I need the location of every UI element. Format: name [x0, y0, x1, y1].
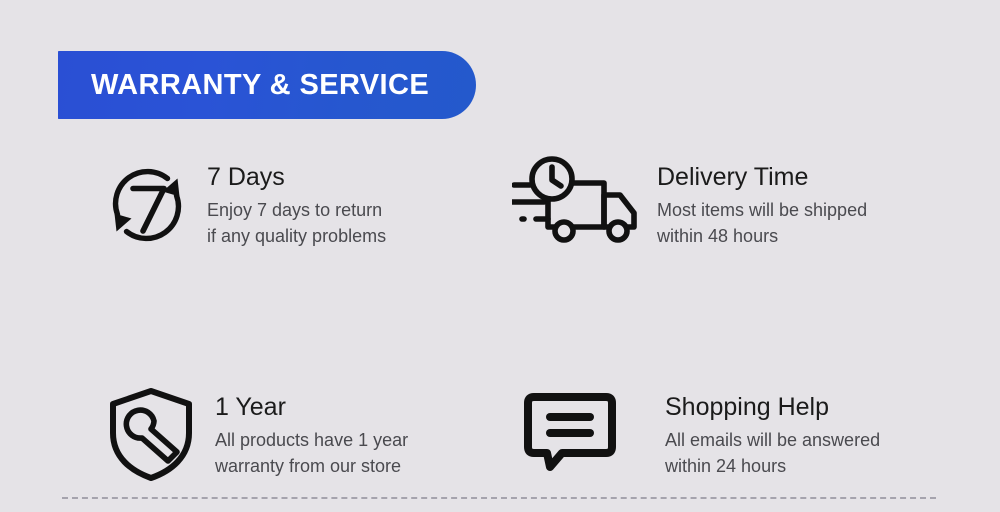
feature-description-line: if any quality problems: [207, 223, 450, 250]
feature-title: 7 Days: [207, 163, 450, 192]
feature-description-line: within 24 hours: [665, 453, 900, 480]
bottom-dashed-divider: [62, 497, 936, 499]
feature-description: All emails will be answered within 24 ho…: [665, 427, 900, 480]
feature-text: Delivery Time Most items will be shipped…: [657, 155, 900, 250]
feature-description-line: within 48 hours: [657, 223, 900, 250]
feature-description-line: warranty from our store: [215, 453, 450, 480]
feature-one-year-warranty: 1 Year All products have 1 year warranty…: [0, 385, 450, 483]
feature-row: 1 Year All products have 1 year warranty…: [0, 385, 1000, 483]
seven-days-return-icon: [97, 155, 207, 255]
feature-text: 7 Days Enjoy 7 days to return if any qua…: [207, 155, 450, 250]
feature-description: Enjoy 7 days to return if any quality pr…: [207, 197, 450, 250]
feature-row: 7 Days Enjoy 7 days to return if any qua…: [0, 155, 1000, 255]
feature-title: Shopping Help: [665, 393, 900, 422]
feature-description-line: Enjoy 7 days to return: [207, 197, 450, 224]
feature-text: 1 Year All products have 1 year warranty…: [215, 385, 450, 480]
feature-seven-days: 7 Days Enjoy 7 days to return if any qua…: [0, 155, 450, 255]
feature-title: 1 Year: [215, 393, 450, 422]
chat-bubble-icon: [512, 385, 665, 477]
feature-grid: 7 Days Enjoy 7 days to return if any qua…: [0, 155, 1000, 483]
warranty-banner: WARRANTY & SERVICE: [58, 51, 476, 119]
feature-description-line: Most items will be shipped: [657, 197, 900, 224]
banner-title: WARRANTY & SERVICE: [91, 71, 429, 100]
feature-shopping-help: Shopping Help All emails will be answere…: [450, 385, 900, 483]
feature-description-line: All emails will be answered: [665, 427, 900, 454]
warranty-service-panel: WARRANTY & SERVICE: [0, 0, 1000, 512]
row-spacer: [0, 255, 1000, 385]
feature-description: Most items will be shipped within 48 hou…: [657, 197, 900, 250]
feature-text: Shopping Help All emails will be answere…: [665, 385, 900, 480]
shield-wrench-icon: [97, 385, 215, 483]
feature-description: All products have 1 year warranty from o…: [215, 427, 450, 480]
feature-delivery-time: Delivery Time Most items will be shipped…: [450, 155, 900, 255]
delivery-truck-clock-icon: [512, 155, 657, 250]
feature-title: Delivery Time: [657, 163, 900, 192]
feature-description-line: All products have 1 year: [215, 427, 450, 454]
